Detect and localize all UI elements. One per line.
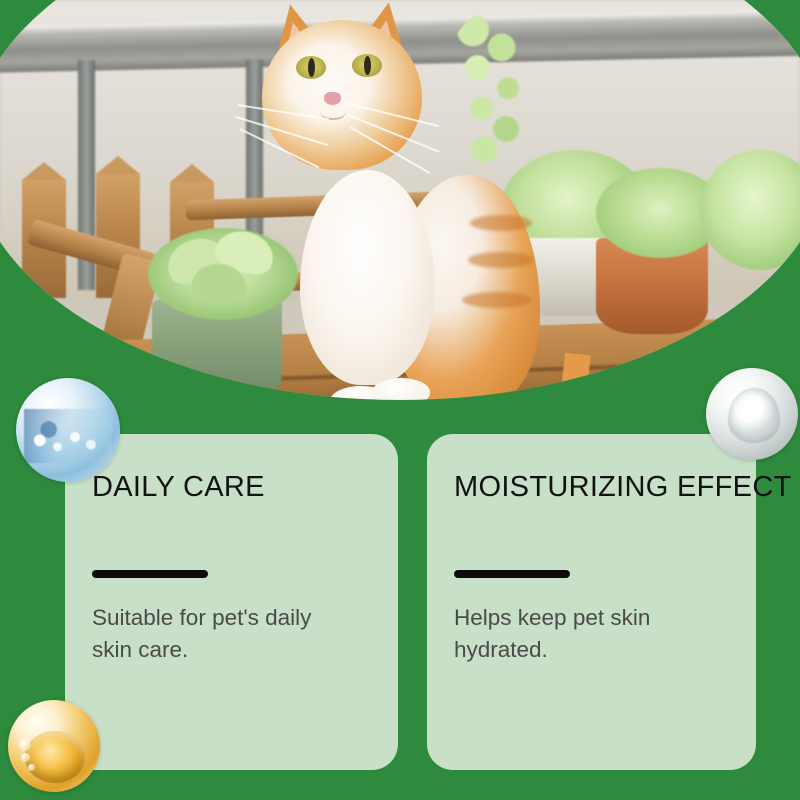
- product-feature-poster: DAILY CARE Suitable for pet's daily skin…: [0, 0, 800, 800]
- card-body-text: Helps keep pet skin hydrated.: [454, 602, 709, 666]
- ice-droplet-icon: [706, 368, 798, 460]
- cat-stripe: [470, 215, 532, 231]
- card-divider-rule: [92, 570, 208, 578]
- oil-droplet-detail: [25, 731, 86, 783]
- card-divider-rule: [454, 570, 570, 578]
- oil-bubble: [19, 739, 31, 751]
- cat-stripe: [468, 252, 534, 268]
- feature-card-daily-care: DAILY CARE Suitable for pet's daily skin…: [65, 434, 398, 770]
- cat-head: [262, 20, 422, 170]
- cat-pupil-right: [364, 56, 371, 75]
- card-title: MOISTURIZING EFFECT: [454, 472, 728, 504]
- oil-droplet-icon: [8, 700, 100, 792]
- water-splash-detail: [24, 409, 111, 463]
- ice-droplet-detail: [728, 388, 780, 443]
- water-splash-icon: [16, 378, 120, 482]
- hero-photo-image: [0, 0, 800, 470]
- hero-photo: [0, 0, 800, 470]
- cat-paw: [372, 378, 430, 406]
- cat-pupil-left: [308, 58, 315, 77]
- card-body-text: Suitable for pet's daily skin care.: [92, 602, 347, 666]
- card-title: DAILY CARE: [92, 472, 370, 504]
- feature-card-moisturizing-effect: MOISTURIZING EFFECT Helps keep pet skin …: [427, 434, 756, 770]
- cat-stripe: [462, 292, 532, 308]
- string-of-pearls-plant: [440, 10, 550, 180]
